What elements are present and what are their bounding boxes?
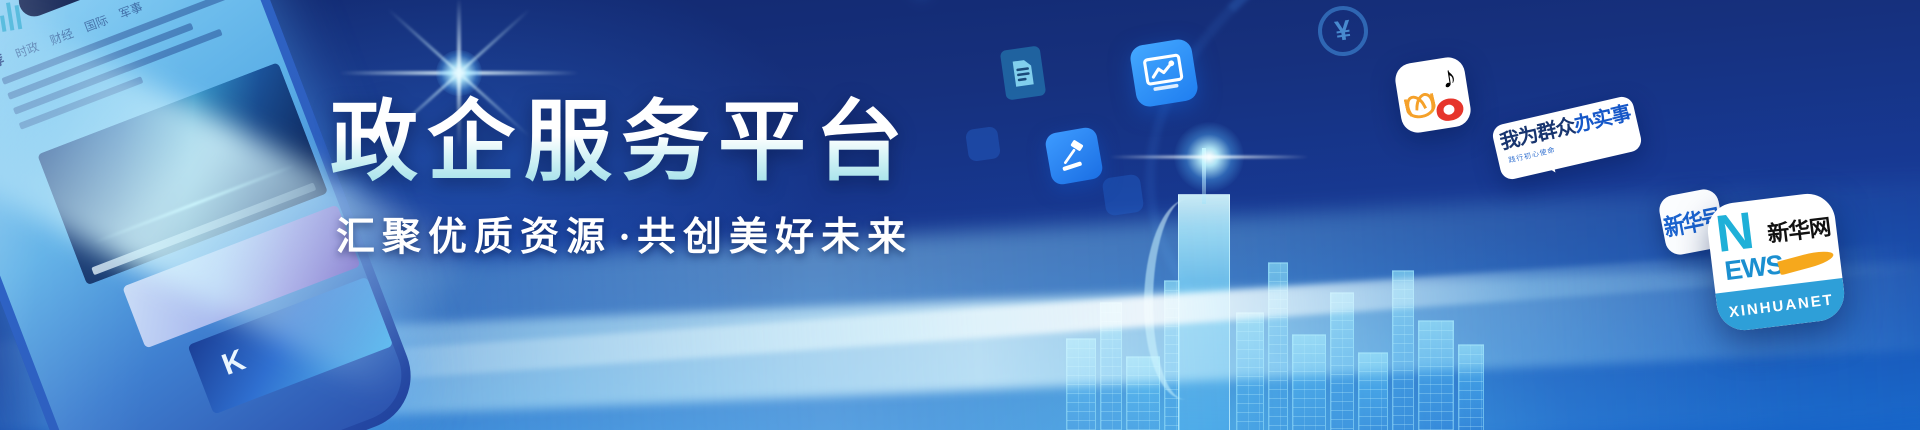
slogan-text-b: 办实事 <box>1572 102 1632 136</box>
xinhuanet-logo-n: N <box>1714 209 1757 259</box>
decorative-tile-b <box>1102 174 1145 217</box>
slogan-text: 我为群众办实事 <box>1498 103 1632 152</box>
subtitle-right: 共创美好未来 <box>637 216 913 259</box>
starburst-core <box>436 50 482 96</box>
xinhuanet-logo-ews: EWS <box>1723 249 1785 287</box>
xinhuanet-swoosh-icon <box>1777 247 1835 275</box>
analytics-monitor-icon[interactable] <box>1129 38 1200 109</box>
xinhuanet-app-icon[interactable]: N EWS 新华网 XINHUANET <box>1705 191 1848 334</box>
page-subtitle: 汇聚优质资源·共创美好未来 <box>336 206 930 262</box>
decorative-tile-a <box>965 126 1001 162</box>
tower-light-flare <box>1204 152 1214 162</box>
subtitle-separator: · <box>612 216 637 259</box>
starburst-flare <box>452 66 466 80</box>
social-media-tile[interactable] <box>1393 55 1473 135</box>
xinhuanet-logo-cn: 新华网 <box>1765 209 1831 248</box>
weibo-icon <box>1435 97 1465 123</box>
yuan-currency-icon: ¥ <box>1315 3 1371 59</box>
channels-butterfly-icon <box>1404 93 1438 121</box>
document-icon[interactable] <box>1000 45 1047 100</box>
page-title: 政企服务平台 <box>330 95 930 188</box>
subtitle-left: 汇聚优质资源 <box>336 216 612 259</box>
headline-block: 政企服务平台 汇聚优质资源·共创美好未来 <box>330 95 930 262</box>
bar-chart-icon <box>0 0 28 32</box>
xinhuanet-logo-area: N EWS 新华网 <box>1705 191 1843 294</box>
gavel-icon[interactable] <box>1044 126 1104 186</box>
xinhuanet-en-label: XINHUANET <box>1728 291 1835 321</box>
tower-spire <box>1202 148 1206 204</box>
slogan-speech-bubble: 我为群众办实事 践行初心使命 <box>1491 95 1644 182</box>
tiktok-icon <box>1439 62 1459 94</box>
promo-banner: 关注 推荐 时政 财经 国际 军事 K <box>0 0 1920 430</box>
